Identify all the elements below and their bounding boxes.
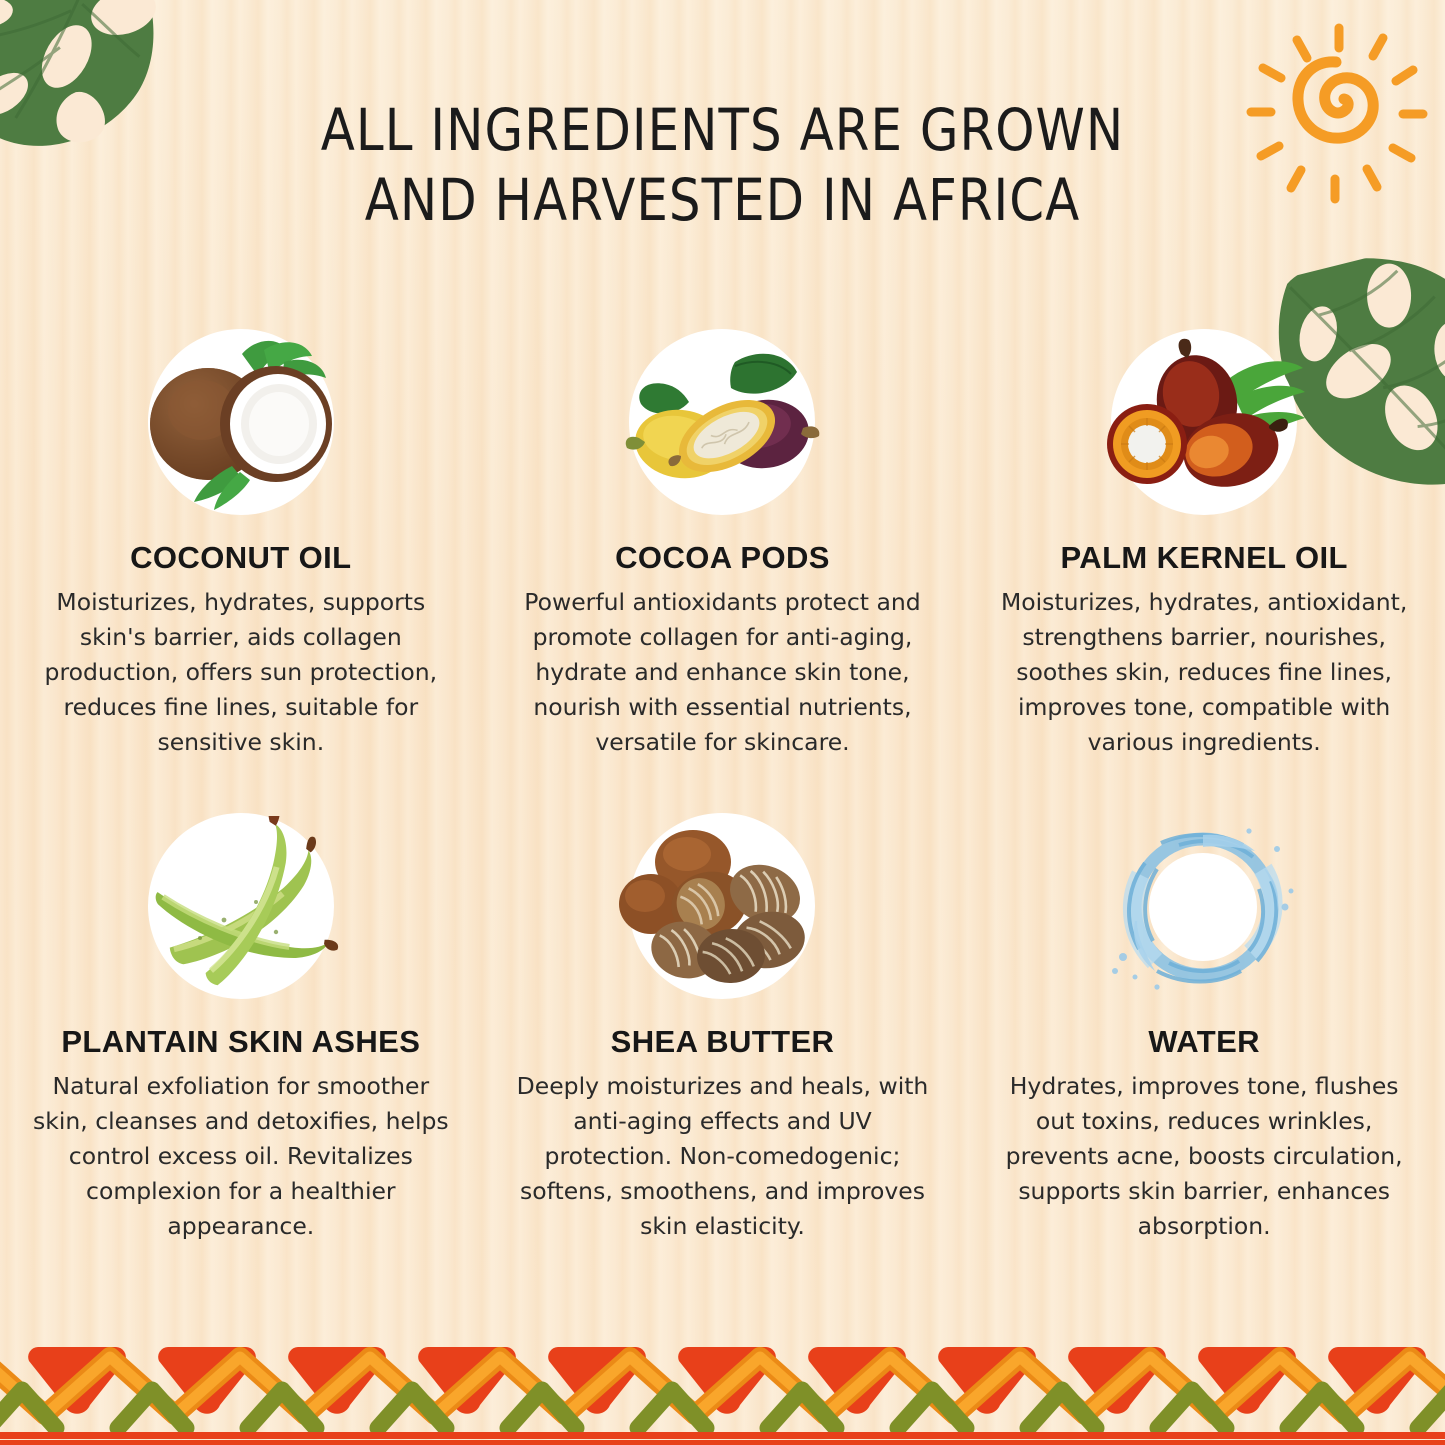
plantain-icon (125, 802, 357, 1010)
ingredient-description: Deeply moisturizes and heals, with anti-… (508, 1069, 938, 1244)
ingredient-title: WATER (1148, 1024, 1260, 1060)
coconut-icon (125, 318, 357, 526)
ingredient-grid: COCONUT OIL Moisturizes, hydrates, suppo… (0, 318, 1445, 1244)
shea-nut-icon (606, 802, 838, 1010)
ingredient-card-palm-kernel-oil: PALM KERNEL OIL Moisturizes, hydrates, a… (963, 318, 1445, 760)
ingredient-description: Moisturizes, hydrates, antioxidant, stre… (989, 585, 1419, 760)
ingredient-title: COCONUT OIL (130, 540, 351, 576)
ingredient-card-water: WATER Hydrates, improves tone, flushes o… (963, 802, 1445, 1244)
page-title-line-1: ALL INGREDIENTS ARE GROWN (101, 95, 1344, 165)
ingredient-card-shea-butter: SHEA BUTTER Deeply moisturizes and heals… (482, 802, 964, 1244)
page-title-line-2: AND HARVESTED IN AFRICA (101, 165, 1344, 235)
ingredient-description: Powerful antioxidants protect and promot… (508, 585, 938, 760)
water-splash-icon (1088, 802, 1320, 1010)
ingredient-description: Moisturizes, hydrates, supports skin's b… (26, 585, 456, 760)
ingredient-description: Natural exfoliation for smoother skin, c… (26, 1069, 456, 1244)
ingredient-card-cocoa-pods: COCOA PODS Powerful antioxidants protect… (482, 318, 964, 760)
ingredient-card-coconut-oil: COCONUT OIL Moisturizes, hydrates, suppo… (0, 318, 482, 760)
ingredient-description: Hydrates, improves tone, flushes out tox… (989, 1069, 1419, 1244)
page-title: ALL INGREDIENTS ARE GROWN AND HARVESTED … (101, 95, 1344, 235)
palm-kernel-icon (1088, 318, 1320, 526)
ingredient-card-plantain-skin-ashes: PLANTAIN SKIN ASHES Natural exfoliation … (0, 802, 482, 1244)
ingredient-title: SHEA BUTTER (611, 1024, 835, 1060)
ingredient-title: PALM KERNEL OIL (1061, 540, 1348, 576)
ingredient-title: COCOA PODS (615, 540, 830, 576)
cocoa-pod-icon (606, 318, 838, 526)
infographic-page: ALL INGREDIENTS ARE GROWN AND HARVESTED … (0, 0, 1445, 1445)
african-tribal-border (0, 1333, 1445, 1445)
ingredient-title: PLANTAIN SKIN ASHES (61, 1024, 420, 1060)
